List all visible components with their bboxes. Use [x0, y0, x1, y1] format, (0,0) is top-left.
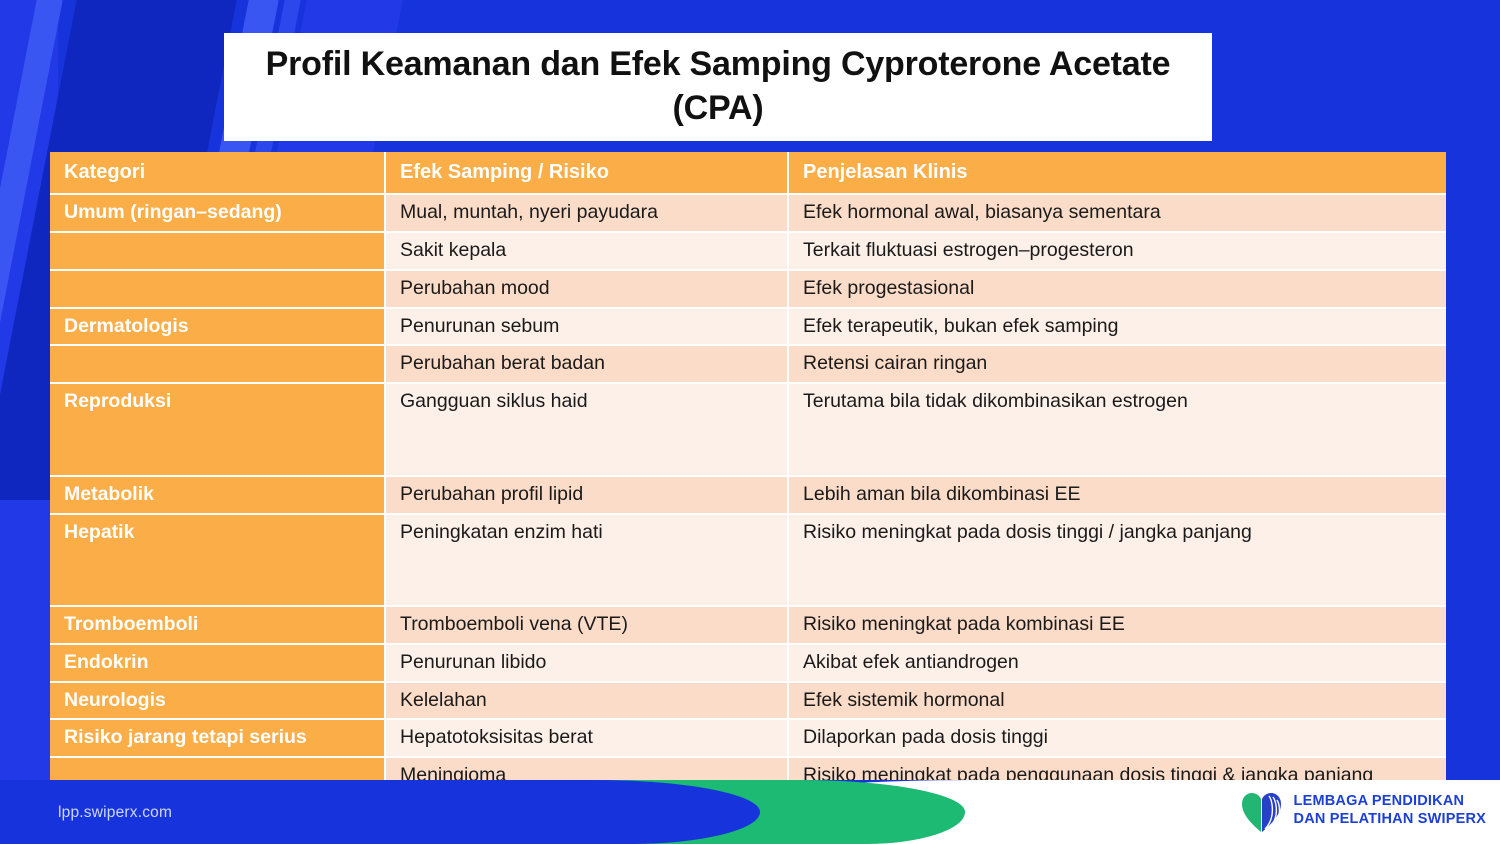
- cell-kategori: Tromboemboli: [50, 607, 384, 645]
- cell-penjelasan-klinis: Terutama bila tidak dikombinasikan estro…: [787, 384, 1446, 477]
- cell-penjelasan-klinis: Akibat efek antiandrogen: [787, 645, 1446, 683]
- column-header-efek-samping: Efek Samping / Risiko: [384, 152, 787, 195]
- heart-logo-icon: [1239, 788, 1285, 834]
- cell-kategori: Dermatologis: [50, 309, 384, 347]
- cell-kategori: Neurologis: [50, 683, 384, 721]
- cell-penjelasan-klinis: Efek sistemik hormonal: [787, 683, 1446, 721]
- cell-efek-samping: Sakit kepala: [384, 233, 787, 271]
- logo-wordmark: LEMBAGA PENDIDIKAN DAN PELATIHAN SWIPERX: [1294, 793, 1486, 828]
- cell-kategori: Reproduksi: [50, 384, 384, 477]
- table-row: HepatikPeningkatan enzim hatiRisiko meni…: [50, 515, 1446, 608]
- cell-kategori: Umum (ringan–sedang): [50, 195, 384, 233]
- logo-line-1: LEMBAGA PENDIDIKAN: [1294, 793, 1486, 811]
- cell-efek-samping: Mual, muntah, nyeri payudara: [384, 195, 787, 233]
- cell-efek-samping: Perubahan profil lipid: [384, 477, 787, 515]
- cell-efek-samping: Penurunan libido: [384, 645, 787, 683]
- logo-line-2: DAN PELATIHAN SWIPERX: [1294, 811, 1486, 829]
- cell-kategori: Metabolik: [50, 477, 384, 515]
- table-row: DermatologisPenurunan sebumEfek terapeut…: [50, 309, 1446, 347]
- page-title: Profil Keamanan dan Efek Samping Cyprote…: [248, 43, 1188, 130]
- table-row: MeningiomaRisiko meningkat pada pengguna…: [50, 758, 1446, 844]
- cell-penjelasan-klinis: Lebih aman bila dikombinasi EE: [787, 477, 1446, 515]
- table-row: Umum (ringan–sedang)Mual, muntah, nyeri …: [50, 195, 1446, 233]
- cell-penjelasan-klinis: Efek terapeutik, bukan efek samping: [787, 309, 1446, 347]
- title-banner: Profil Keamanan dan Efek Samping Cyprote…: [224, 33, 1212, 141]
- cell-kategori: Endokrin: [50, 645, 384, 683]
- cell-efek-samping: Kelelahan: [384, 683, 787, 721]
- table-row: TromboemboliTromboemboli vena (VTE)Risik…: [50, 607, 1446, 645]
- cell-penjelasan-klinis: Risiko meningkat pada kombinasi EE: [787, 607, 1446, 645]
- table-row: Perubahan moodEfek progestasional: [50, 271, 1446, 309]
- cell-penjelasan-klinis: Risiko meningkat pada dosis tinggi / jan…: [787, 515, 1446, 608]
- cell-efek-samping: Gangguan siklus haid: [384, 384, 787, 477]
- cell-penjelasan-klinis: Efek progestasional: [787, 271, 1446, 309]
- table-row: Sakit kepalaTerkait fluktuasi estrogen–p…: [50, 233, 1446, 271]
- column-header-penjelasan-klinis: Penjelasan Klinis: [787, 152, 1446, 195]
- table-row: ReproduksiGangguan siklus haidTerutama b…: [50, 384, 1446, 477]
- table-row: Perubahan berat badanRetensi cairan ring…: [50, 346, 1446, 384]
- cell-penjelasan-klinis: Efek hormonal awal, biasanya sementara: [787, 195, 1446, 233]
- brand-logo: LEMBAGA PENDIDIKAN DAN PELATIHAN SWIPERX: [1239, 788, 1486, 834]
- cell-efek-samping: Perubahan mood: [384, 271, 787, 309]
- footer-url[interactable]: lpp.swiperx.com: [58, 804, 172, 822]
- cell-kategori: Risiko jarang tetapi serius: [50, 720, 384, 758]
- cell-penjelasan-klinis: Retensi cairan ringan: [787, 346, 1446, 384]
- side-effects-table: Kategori Efek Samping / Risiko Penjelasa…: [50, 152, 1446, 844]
- table-row: EndokrinPenurunan libidoAkibat efek anti…: [50, 645, 1446, 683]
- cell-efek-samping: Hepatotoksisitas berat: [384, 720, 787, 758]
- cell-kategori: [50, 758, 384, 844]
- cell-efek-samping: Tromboemboli vena (VTE): [384, 607, 787, 645]
- cell-kategori: [50, 346, 384, 384]
- table-row: NeurologisKelelahanEfek sistemik hormona…: [50, 683, 1446, 721]
- table-body: Umum (ringan–sedang)Mual, muntah, nyeri …: [50, 195, 1446, 844]
- cell-kategori: [50, 233, 384, 271]
- cell-kategori: [50, 271, 384, 309]
- table-row: MetabolikPerubahan profil lipidLebih ama…: [50, 477, 1446, 515]
- cell-kategori: Hepatik: [50, 515, 384, 608]
- cell-efek-samping: Meningioma: [384, 758, 787, 844]
- cell-efek-samping: Penurunan sebum: [384, 309, 787, 347]
- table-header: Kategori Efek Samping / Risiko Penjelasa…: [50, 152, 1446, 195]
- cell-efek-samping: Perubahan berat badan: [384, 346, 787, 384]
- cell-efek-samping: Peningkatan enzim hati: [384, 515, 787, 608]
- column-header-kategori: Kategori: [50, 152, 384, 195]
- table-row: Risiko jarang tetapi seriusHepatotoksisi…: [50, 720, 1446, 758]
- cell-penjelasan-klinis: Dilaporkan pada dosis tinggi: [787, 720, 1446, 758]
- table-header-row: Kategori Efek Samping / Risiko Penjelasa…: [50, 152, 1446, 195]
- cell-penjelasan-klinis: Terkait fluktuasi estrogen–progesteron: [787, 233, 1446, 271]
- slide-canvas: Profil Keamanan dan Efek Samping Cyprote…: [0, 0, 1500, 844]
- side-effects-table-container: Kategori Efek Samping / Risiko Penjelasa…: [50, 152, 1446, 844]
